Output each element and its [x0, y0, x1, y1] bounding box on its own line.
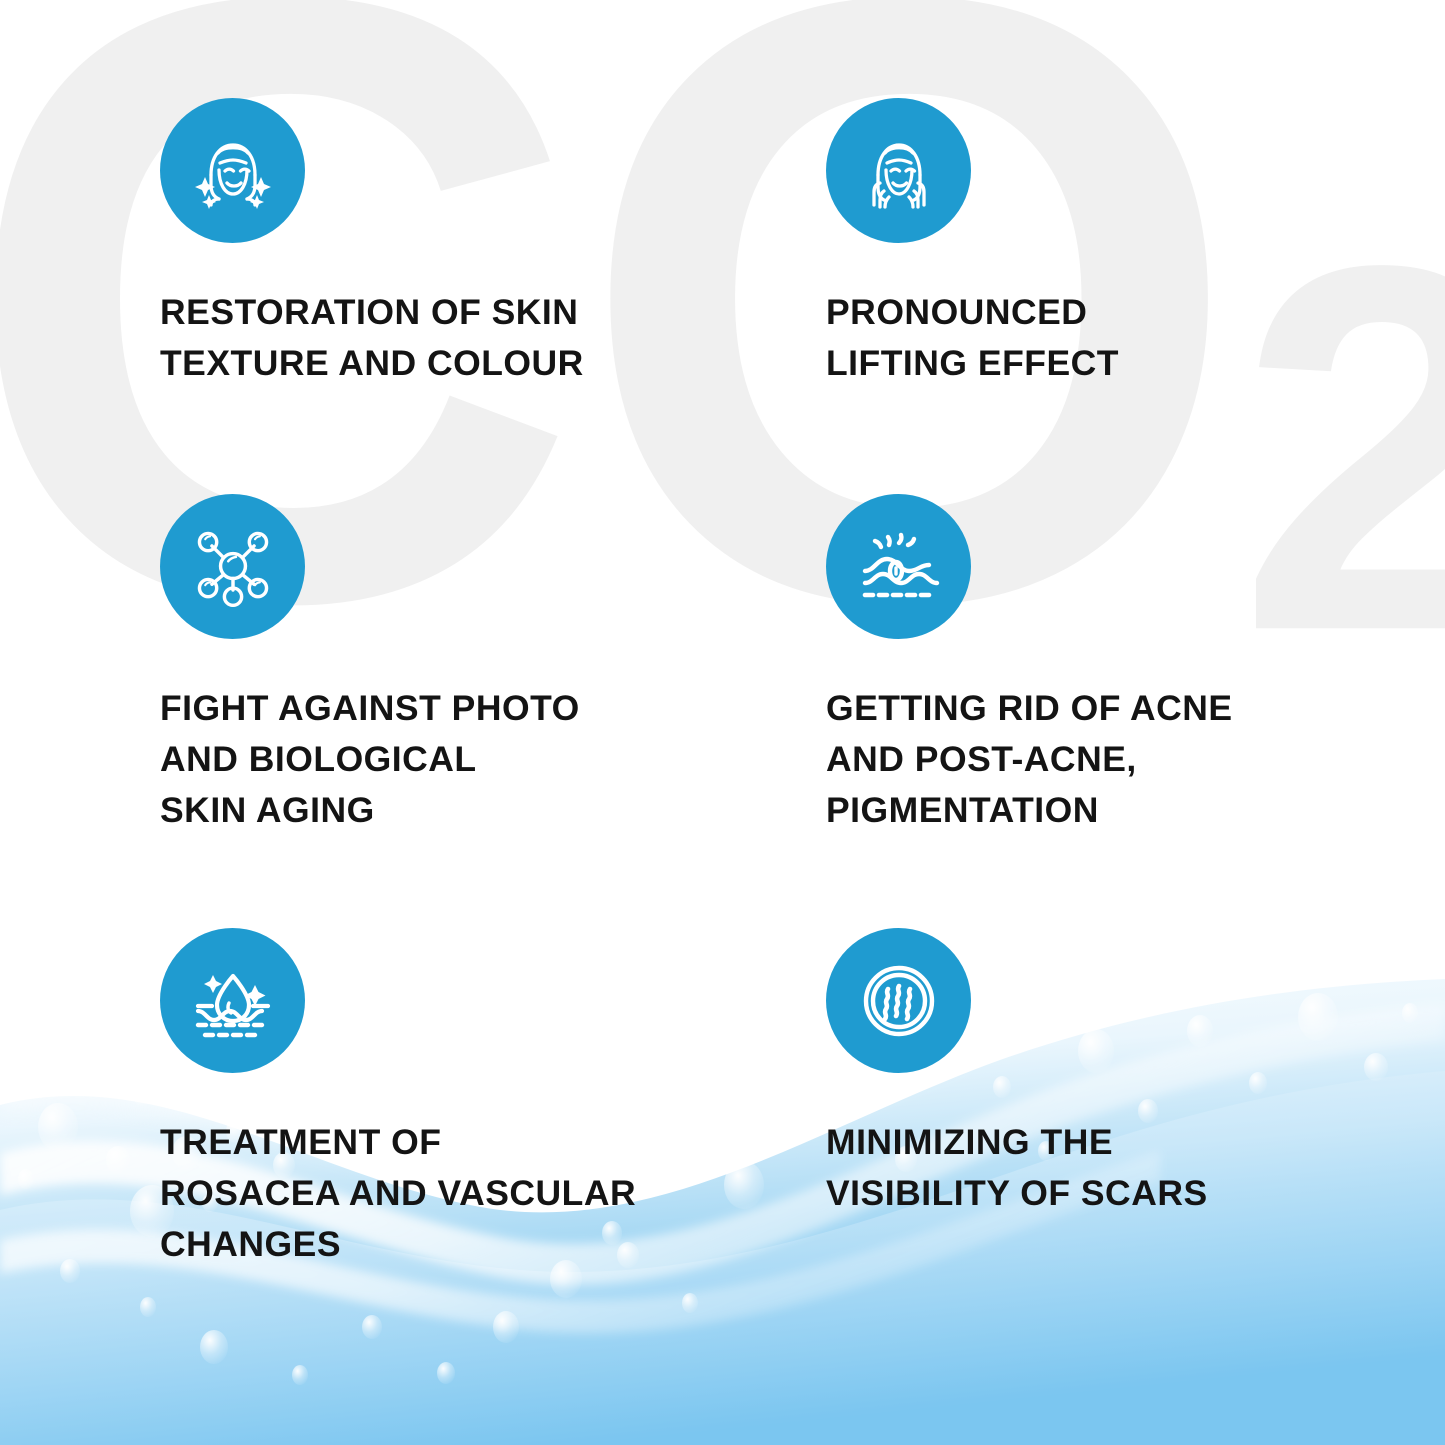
- benefit-icon-badge: [826, 494, 971, 639]
- benefit-label: RESTORATION OF SKIN TEXTURE AND COLOUR: [160, 287, 584, 389]
- benefit-icon-badge: [160, 928, 305, 1073]
- benefit-icon-badge: [826, 98, 971, 243]
- hydration-droplet-skin-icon: [185, 953, 281, 1049]
- benefits-grid: RESTORATION OF SKIN TEXTURE AND COLOUR: [0, 0, 1445, 1445]
- infographic-canvas: CO2: [0, 0, 1445, 1445]
- benefit-icon-badge: [160, 98, 305, 243]
- molecule-network-icon: [187, 521, 279, 613]
- acne-skin-layers-icon: [851, 519, 947, 615]
- benefit-item-anti-aging[interactable]: FIGHT AGAINST PHOTO AND BIOLOGICAL SKIN …: [160, 494, 580, 836]
- benefit-label: FIGHT AGAINST PHOTO AND BIOLOGICAL SKIN …: [160, 683, 580, 836]
- benefit-item-restoration[interactable]: RESTORATION OF SKIN TEXTURE AND COLOUR: [160, 98, 584, 389]
- scar-magnifier-icon: [851, 953, 947, 1049]
- benefit-label: MINIMIZING THE VISIBILITY OF SCARS: [826, 1117, 1208, 1219]
- benefit-item-acne[interactable]: GETTING RID OF ACNE AND POST-ACNE, PIGME…: [826, 494, 1233, 836]
- face-lifting-hands-icon: [851, 123, 947, 219]
- benefit-label: TREATMENT OF ROSACEA AND VASCULAR CHANGE…: [160, 1117, 636, 1270]
- benefit-item-lifting[interactable]: PRONOUNCED LIFTING EFFECT: [826, 98, 1119, 389]
- benefit-item-rosacea[interactable]: TREATMENT OF ROSACEA AND VASCULAR CHANGE…: [160, 928, 636, 1270]
- glowing-face-icon: [185, 123, 281, 219]
- benefit-item-scars[interactable]: MINIMIZING THE VISIBILITY OF SCARS: [826, 928, 1208, 1219]
- benefit-label: GETTING RID OF ACNE AND POST-ACNE, PIGME…: [826, 683, 1233, 836]
- benefit-icon-badge: [826, 928, 971, 1073]
- benefit-label: PRONOUNCED LIFTING EFFECT: [826, 287, 1119, 389]
- benefit-icon-badge: [160, 494, 305, 639]
